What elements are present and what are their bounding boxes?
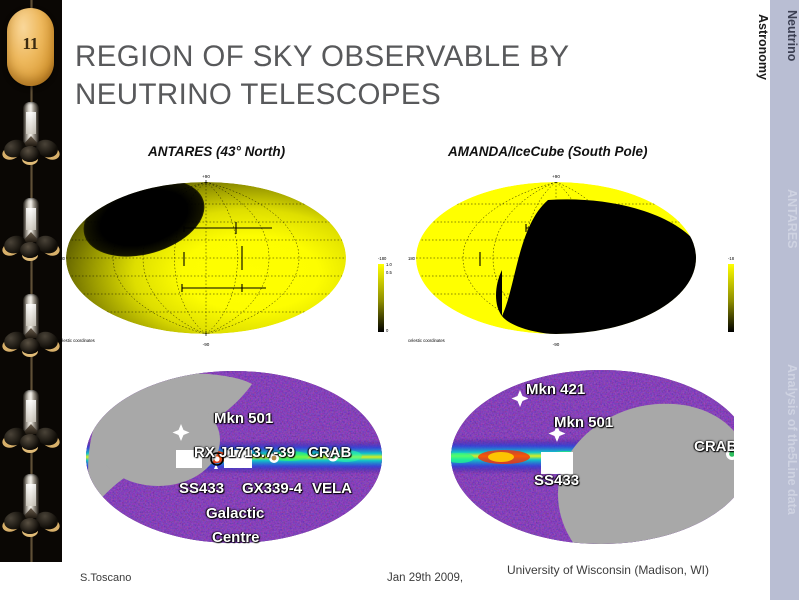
svg-text:0: 0 [386,328,389,333]
caption-antares: ANTARES (43° North) [148,144,285,159]
visibility-map-antares-svg: +90 -90 180 -180 celestic coordinates 1.… [56,166,401,351]
axis-label-bottom: -90 [203,342,210,347]
page-title-line-2: NEUTRINO TELESCOPES [75,76,675,114]
galactic-map-icecube-svg [446,368,756,546]
source-label: Galactic [206,505,264,522]
axis-label-top: +90 [552,174,560,179]
page-title: REGION OF SKY OBSERVABLE BY NEUTRINO TEL… [75,38,675,114]
footer-author: S.Toscano [80,572,131,584]
visibility-map-icecube: +90 -90 180 -180 celestic coordinates 1.… [398,166,748,351]
rightnav-section-label: Astronomy [734,10,770,80]
axis-label-left: 180 [58,256,66,261]
slide-number: 11 [7,34,54,54]
axis-label-coords: celestic coordinates [58,338,95,343]
source-label: SS433 [534,472,579,489]
optical-module-storey [0,96,62,192]
source-label: Mkn 501 [554,414,613,431]
source-label: CRAB [308,444,351,461]
caption-icecube: AMANDA/IceCube (South Pole) [448,144,648,159]
page-title-line-1: REGION OF SKY OBSERVABLE BY [75,38,675,76]
source-label: GX339-4 [242,480,302,497]
axis-label-top: +90 [202,174,210,179]
galactic-map-icecube: Mkn 421Mkn 501CRABSS433 [446,368,756,546]
rightnav: Neutrino ANTARES Analysis of the5Line da… [770,0,799,600]
source-label: RX J1713.7-39 [194,444,295,461]
footer-date: Jan 29th 2009, [387,572,463,584]
axis-label-bottom: -90 [553,342,560,347]
source-label: VELA [312,480,352,497]
colorbar [378,264,384,332]
slide-canvas: 11 REGION OF SKY OBSERVABLE BY NEUTRINO … [0,0,799,600]
optical-module-storey [0,468,62,562]
visibility-map-icecube-svg: +90 -90 180 -180 celestic coordinates 1.… [398,166,748,351]
axis-label-left: 180 [408,256,416,261]
rightnav-item-antares[interactable]: ANTARES [770,185,799,249]
svg-text:0.5: 0.5 [386,270,392,275]
footer-venue: University of Wisconsin (Madison, WI) [491,563,709,577]
rightnav-item-neutrino[interactable]: Neutrino [770,6,799,61]
source-label: Mkn 421 [526,381,585,398]
source-label: SS433 [179,480,224,497]
svg-text:1.0: 1.0 [386,262,392,267]
source-label: CRAB [694,438,737,455]
axis-label-right: -180 [378,256,387,261]
axis-label-coords: celestic coordinates [408,338,445,343]
rightnav-section-panel [734,0,770,600]
slide-number-badge: 11 [7,8,54,86]
source-label: Mkn 501 [214,410,273,427]
rightnav-item-analysis[interactable]: Analysis of the5Line data [770,360,799,515]
optical-module-storey [0,288,62,384]
optical-module-storey [0,384,62,480]
optical-module-storey [0,192,62,288]
visibility-map-antares: +90 -90 180 -180 celestic coordinates 1.… [56,166,401,351]
galactic-map-antares: Mkn 501RX J1713.7-39CRABSS433GX339-4VELA… [84,370,384,545]
source-label: Centre [212,529,260,546]
